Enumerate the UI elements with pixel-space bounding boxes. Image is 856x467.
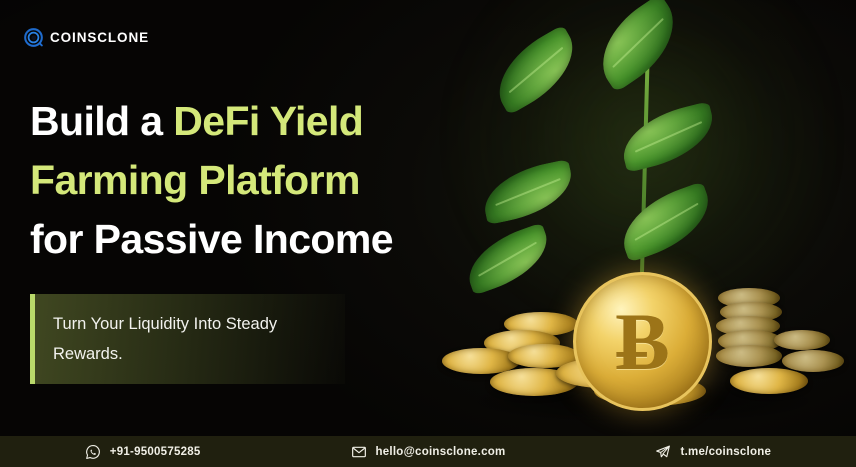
coin-far-right-1 [774, 330, 830, 350]
bitcoin-symbol: Ƀ [576, 275, 709, 408]
page-title: Build a DeFi Yield Farming Platform for … [30, 92, 470, 269]
headline-line-2-accent: Farming Platform [30, 157, 360, 203]
telegram-icon [655, 444, 671, 460]
coin-stack-right-5 [716, 345, 782, 367]
subtitle-text: Turn Your Liquidity Into Steady Rewards. [35, 309, 345, 369]
plant-leaf-low-left [459, 222, 557, 295]
plant-leaf-upper-left [483, 24, 589, 115]
bitcoin-coin: Ƀ [573, 272, 712, 411]
footer-contact-whatsapp[interactable]: +91-9500575285 [0, 444, 285, 460]
plant-leaf-mid-right [615, 101, 720, 173]
coin-far-right-2 [782, 350, 844, 372]
headline-line-1-white: Build a [30, 98, 173, 144]
headline-line-3-white: for Passive Income [30, 216, 393, 262]
footer-contact-telegram[interactable]: t.me/coinsclone [571, 444, 856, 460]
contact-footer: +91-9500575285 hello@coinsclone.com t.me… [0, 436, 856, 467]
hero-artwork: Ƀ [430, 0, 856, 436]
headline-line-1-accent: DeFi Yield [173, 98, 363, 144]
headline-line-1: Build a DeFi Yield [30, 92, 470, 151]
footer-contact-email[interactable]: hello@coinsclone.com [285, 444, 570, 460]
subtitle-callout: Turn Your Liquidity Into Steady Rewards. [30, 294, 345, 384]
whatsapp-icon [85, 444, 101, 460]
coin-far-right-3 [730, 368, 808, 394]
email-icon [351, 444, 367, 460]
plant-leaf-mid-left [478, 159, 578, 225]
brand-name: COINSCLONE [50, 30, 149, 45]
footer-phone-label: +91-9500575285 [110, 446, 201, 458]
footer-email-label: hello@coinsclone.com [376, 446, 506, 458]
headline-line-2: Farming Platform [30, 151, 470, 210]
plant-leaf-low-right [612, 181, 720, 263]
coinsclone-circle-icon [24, 28, 43, 47]
promo-banner: COINSCLONE Build a DeFi Yield Farming Pl… [0, 0, 856, 467]
headline-line-3: for Passive Income [30, 210, 470, 269]
plant-leaf-top [584, 0, 693, 93]
footer-telegram-label: t.me/coinsclone [680, 446, 771, 458]
brand-logo[interactable]: COINSCLONE [24, 28, 149, 47]
